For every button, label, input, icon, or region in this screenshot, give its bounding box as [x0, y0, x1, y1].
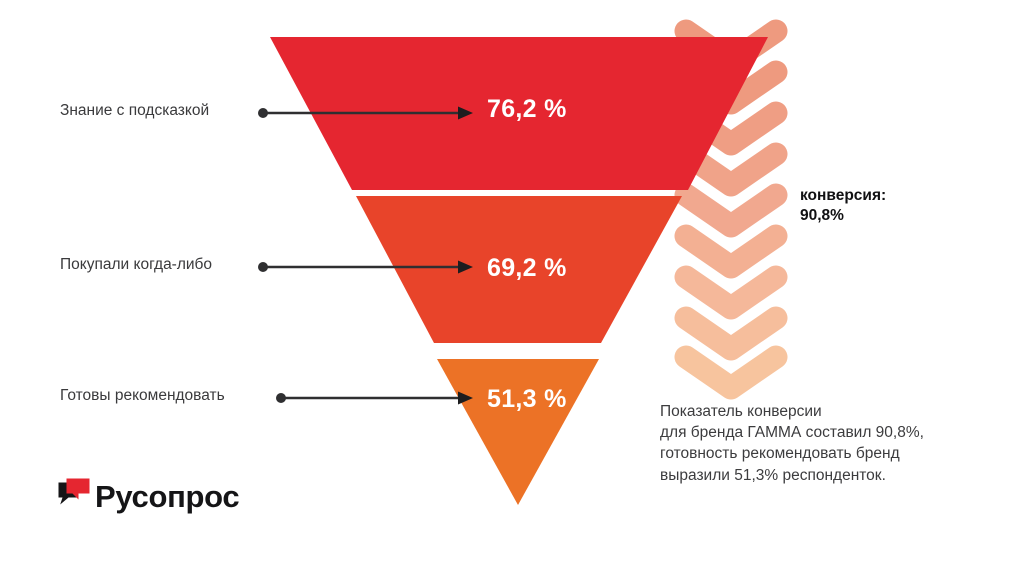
connector-3 — [276, 392, 473, 405]
funnel-label-1: Знание с подсказкой — [60, 102, 209, 120]
funnel-label-2: Покупали когда-либо — [60, 256, 212, 274]
speech-bubble-icon — [57, 477, 91, 509]
infographic-canvas: Знание с подсказкой Покупали когда-либо … — [0, 0, 1024, 576]
logo[interactable]: Русопрос — [57, 477, 239, 512]
funnel-label-3: Готовы рекомендовать — [60, 387, 225, 405]
funnel-segment-3[interactable] — [437, 359, 599, 505]
funnel-value-1: 76,2 % — [487, 95, 567, 124]
funnel-value-3: 51,3 % — [487, 385, 567, 414]
funnel-value-2: 69,2 % — [487, 254, 567, 283]
logo-text: Русопрос — [95, 481, 239, 512]
conversion-callout: конверсия: 90,8% — [800, 186, 960, 226]
description-text: Показатель конверсии для бренда ГАММА со… — [660, 401, 990, 486]
